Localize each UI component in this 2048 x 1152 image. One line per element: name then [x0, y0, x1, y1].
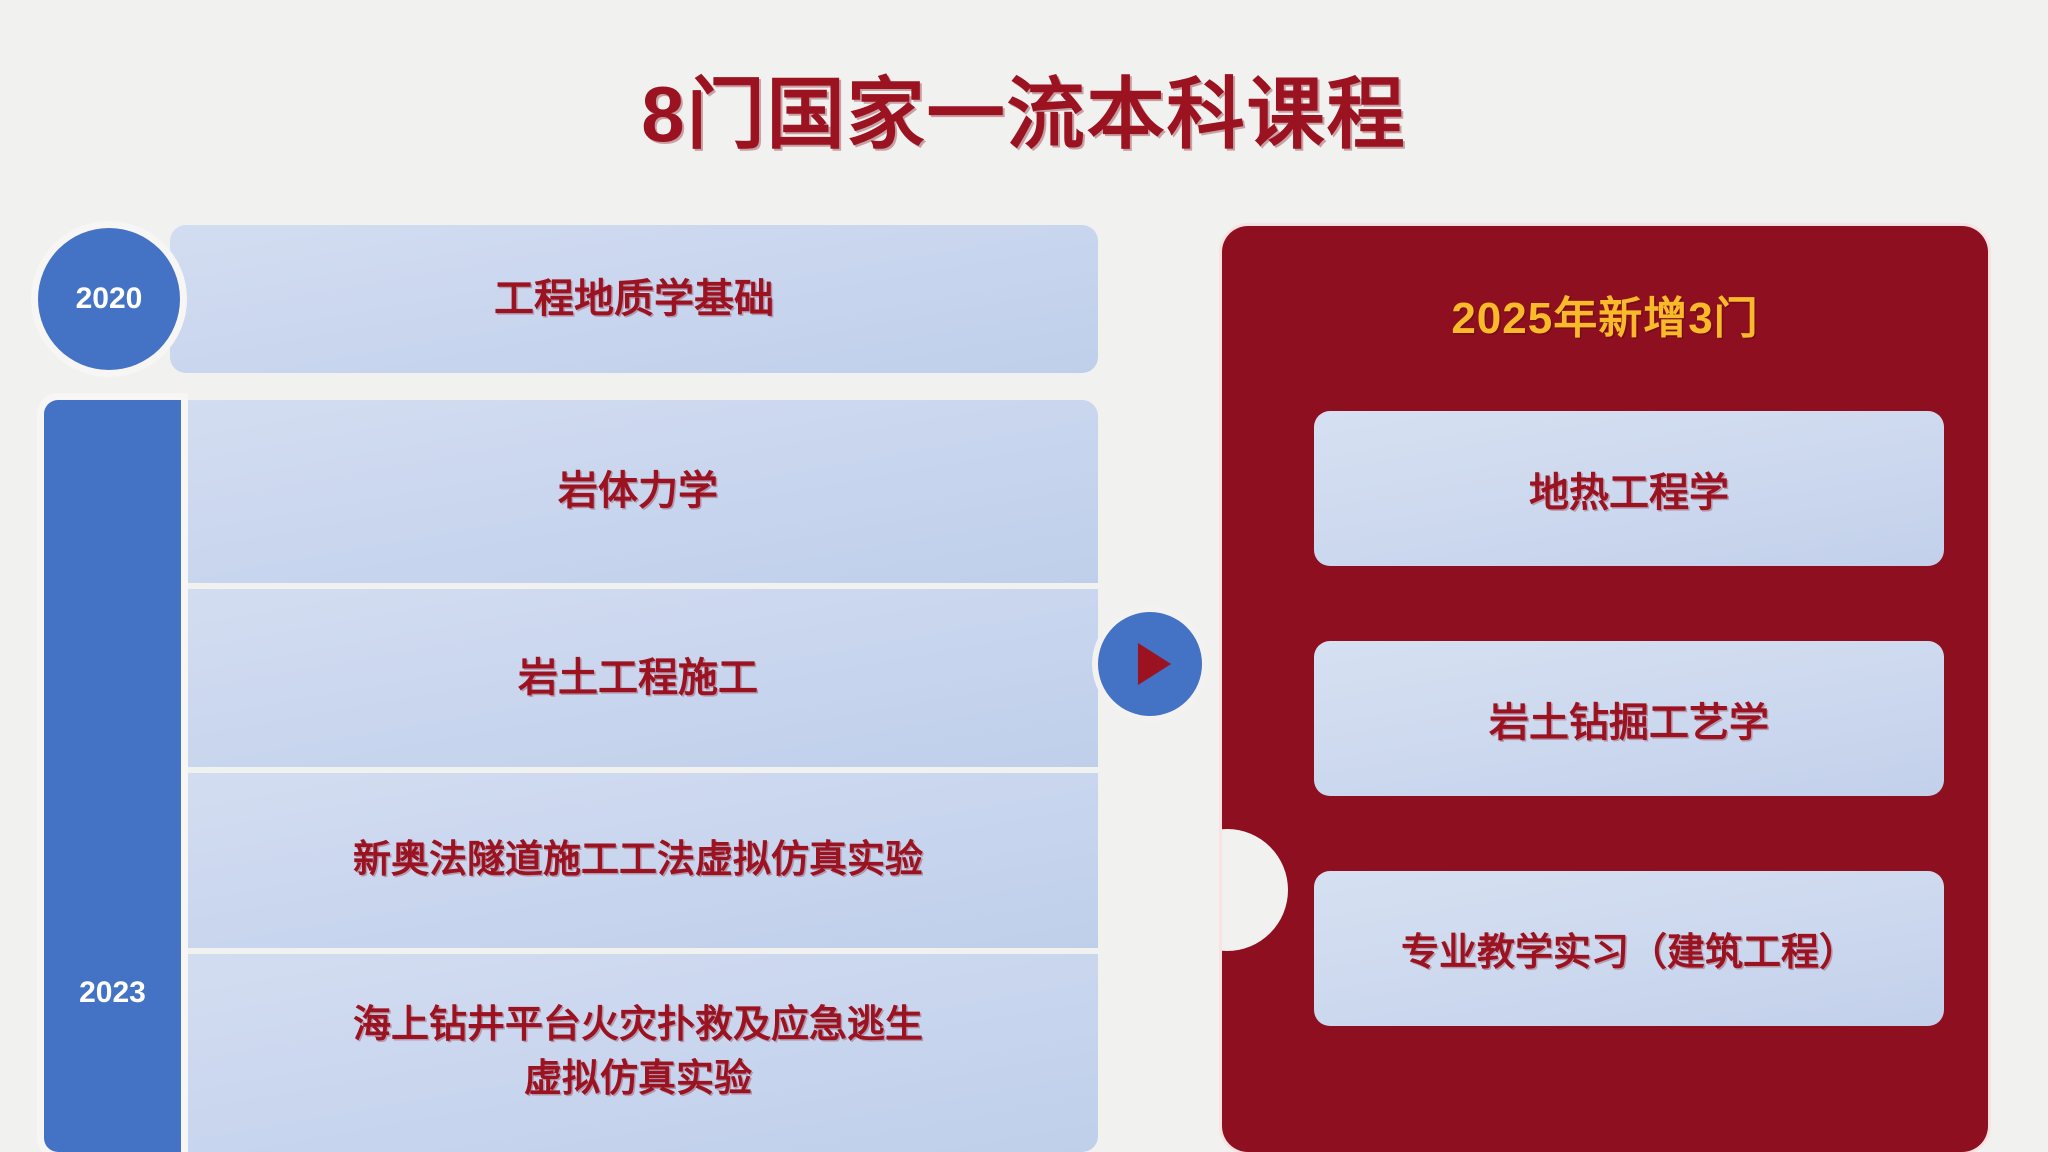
- course-card[interactable]: 新奥法隧道施工工法虚拟仿真实验: [178, 773, 1098, 948]
- new-course-card[interactable]: 专业教学实习（建筑工程）: [1314, 871, 1944, 1026]
- course-card[interactable]: 岩土工程施工: [178, 589, 1098, 767]
- year-label: 2020: [76, 282, 143, 316]
- new-courses-heading: 2025年新增3门: [1222, 282, 1988, 346]
- course-name: 工程地质学基础: [494, 271, 774, 328]
- course-name: 新奥法隧道施工工法虚拟仿真实验: [353, 834, 923, 888]
- course-name: 岩土工程施工: [518, 650, 758, 707]
- course-name: 岩土钻掘工艺学: [1489, 690, 1769, 748]
- new-courses-panel: 2025年新增3门 地热工程学 岩土钻掘工艺学 专业教学实习（建筑工程）: [1222, 226, 1988, 1152]
- year-label: 2023: [44, 976, 181, 1010]
- course-card[interactable]: 岩体力学: [178, 400, 1098, 583]
- page-title: 8门国家一流本科课程: [0, 52, 2048, 164]
- course-name-line-2: 虚拟仿真实验: [353, 1053, 923, 1107]
- new-course-card[interactable]: 岩土钻掘工艺学: [1314, 641, 1944, 796]
- year-marker-2020: 2020: [38, 228, 180, 370]
- panel-notch-decoration: [1222, 829, 1288, 951]
- infographic-slide: 8门国家一流本科课程 2020 2023 工程地质学基础 岩体力学 岩土工程施工…: [0, 0, 2048, 1152]
- course-name: 专业教学实习（建筑工程）: [1401, 921, 1857, 976]
- course-name: 地热工程学: [1529, 460, 1729, 518]
- new-course-card[interactable]: 地热工程学: [1314, 411, 1944, 566]
- course-name: 海上钻井平台火灾扑救及应急逃生 虚拟仿真实验: [353, 999, 923, 1107]
- year-marker-2023: 2023: [44, 400, 181, 1152]
- course-name-line-1: 海上钻井平台火灾扑救及应急逃生: [353, 999, 923, 1053]
- course-card[interactable]: 工程地质学基础: [170, 225, 1098, 373]
- play-triangle-glyph: [1138, 643, 1171, 685]
- existing-courses-timeline: 2020 2023 工程地质学基础 岩体力学 岩土工程施工 新奥法隧道施工工法虚…: [38, 228, 1058, 1152]
- course-name: 岩体力学: [558, 463, 718, 520]
- play-triangle-icon[interactable]: [1098, 612, 1202, 716]
- course-card[interactable]: 海上钻井平台火灾扑救及应急逃生 虚拟仿真实验: [178, 954, 1098, 1152]
